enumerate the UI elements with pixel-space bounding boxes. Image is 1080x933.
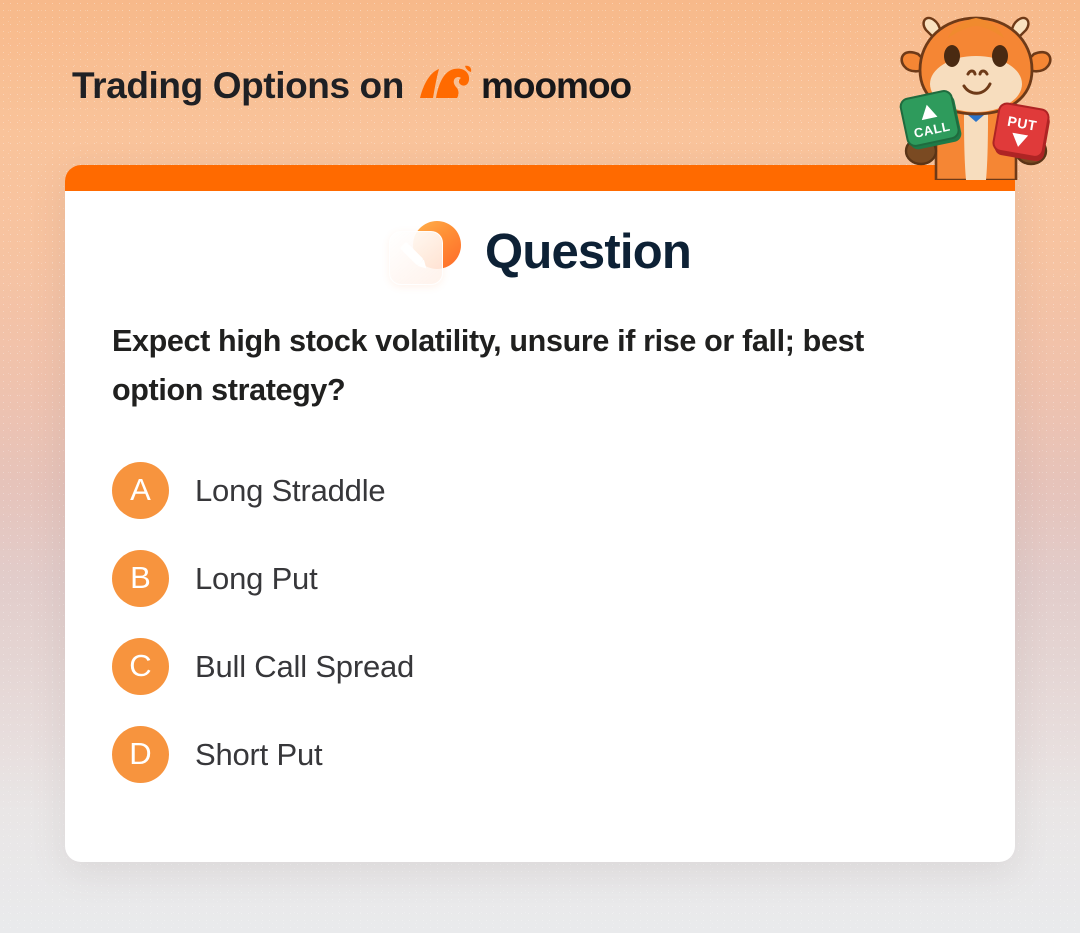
page-title: Trading Options on bbox=[72, 65, 404, 107]
question-heading: Question bbox=[485, 228, 691, 277]
card-accent-bar bbox=[65, 165, 1015, 191]
option-row-b[interactable]: B Long Put bbox=[112, 535, 968, 623]
option-label-a: Long Straddle bbox=[195, 475, 385, 506]
option-badge-c: C bbox=[112, 638, 169, 695]
option-badge-b: B bbox=[112, 550, 169, 607]
card-body: Question Expect high stock volatility, u… bbox=[65, 191, 1015, 862]
poster-canvas: Trading Options on moomoo bbox=[0, 0, 1080, 933]
option-label-b: Long Put bbox=[195, 563, 318, 594]
brand-wordmark: moomoo bbox=[481, 65, 631, 107]
option-badge-d: D bbox=[112, 726, 169, 783]
header: Trading Options on moomoo bbox=[72, 64, 631, 107]
question-heading-row: Question bbox=[65, 221, 1015, 283]
put-card: PUT bbox=[992, 102, 1052, 162]
question-card: Question Expect high stock volatility, u… bbox=[65, 165, 1015, 862]
option-row-d[interactable]: D Short Put bbox=[112, 711, 968, 799]
moomoo-bull-logo-icon bbox=[418, 64, 472, 107]
option-label-d: Short Put bbox=[195, 739, 322, 770]
option-label-c: Bull Call Spread bbox=[195, 651, 414, 682]
pencil-edit-icon bbox=[389, 221, 463, 283]
moomoo-bull-mascot: CALL PUT bbox=[884, 8, 1068, 180]
options-list: A Long Straddle B Long Put C Bull Call S… bbox=[65, 447, 1015, 799]
option-row-a[interactable]: A Long Straddle bbox=[112, 447, 968, 535]
call-card: CALL bbox=[899, 89, 963, 151]
option-badge-a: A bbox=[112, 462, 169, 519]
question-text: Expect high stock volatility, unsure if … bbox=[112, 317, 962, 416]
brand-lockup: moomoo bbox=[418, 64, 631, 107]
option-row-c[interactable]: C Bull Call Spread bbox=[112, 623, 968, 711]
